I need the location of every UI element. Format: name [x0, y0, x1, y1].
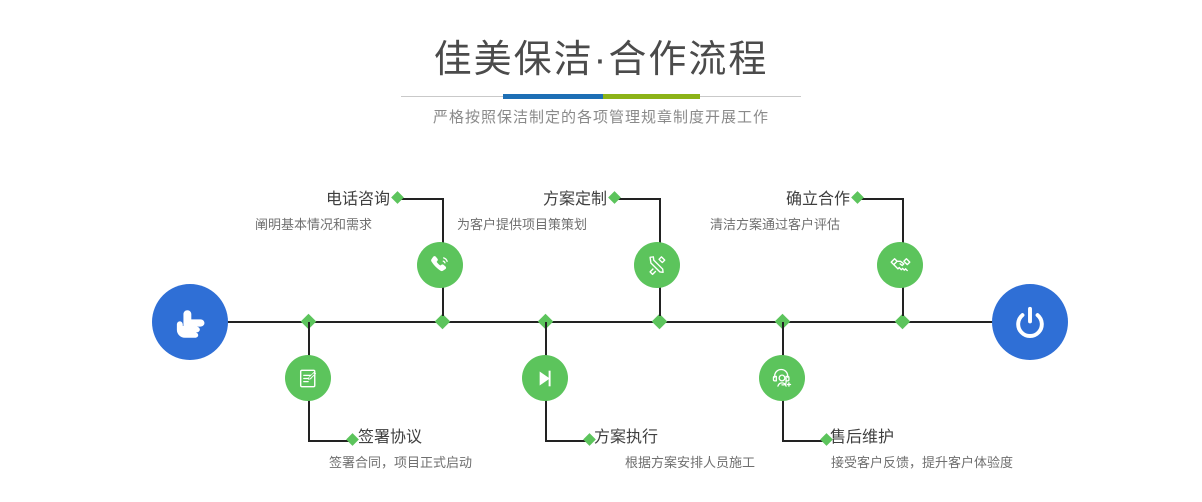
page-subtitle: 严格按照保洁制定的各项管理规章制度开展工作	[0, 106, 1202, 130]
timeline-marker-step-1	[435, 314, 451, 330]
divider-segment-green	[603, 94, 700, 99]
step-desc-6: 接受客户反馈，提升客户体验度	[831, 453, 1013, 473]
step-node-5[interactable]	[877, 242, 923, 288]
step-node-1[interactable]	[417, 242, 463, 288]
step-node-3[interactable]	[634, 242, 680, 288]
flow-end-node[interactable]	[992, 284, 1068, 360]
step-desc-3: 为客户提供项目策策划	[457, 215, 587, 235]
label-marker-step-5	[851, 191, 864, 204]
step-desc-1: 阐明基本情况和需求	[255, 215, 372, 235]
title-divider	[401, 94, 801, 99]
step-title-3: 方案定制	[382, 190, 607, 210]
timeline-marker-step-3	[652, 314, 668, 330]
step-node-2[interactable]	[285, 355, 331, 401]
step-title-4: 方案执行	[594, 428, 658, 448]
pointing-hand-icon	[169, 301, 211, 343]
label-marker-step-2	[346, 433, 359, 446]
step-desc-5: 清洁方案通过客户评估	[710, 215, 840, 235]
step-desc-2: 签署合同，项目正式启动	[329, 453, 472, 473]
pencil-ruler-icon	[644, 252, 670, 278]
headset-add-icon	[769, 365, 795, 391]
step-desc-4: 根据方案安排人员施工	[625, 453, 755, 473]
play-skip-icon	[533, 366, 558, 391]
step-title-1: 电话咨询	[165, 190, 390, 210]
connector-elbow-step-5	[858, 198, 903, 200]
power-icon	[1009, 301, 1051, 343]
phone-call-icon	[427, 252, 453, 278]
step-node-6[interactable]	[759, 355, 805, 401]
page-title: 佳美保洁·合作流程	[0, 36, 1202, 84]
divider-segment-blue	[503, 94, 603, 99]
handshake-icon	[887, 252, 914, 279]
document-edit-icon	[296, 366, 321, 391]
step-title-6: 售后维护	[830, 428, 894, 448]
label-marker-step-3	[608, 191, 621, 204]
timeline-marker-step-5	[895, 314, 911, 330]
step-title-5: 确立合作	[625, 190, 850, 210]
step-node-4[interactable]	[522, 355, 568, 401]
step-title-2: 签署协议	[358, 428, 422, 448]
flow-start-node[interactable]	[152, 284, 228, 360]
process-flow-infographic: 佳美保洁·合作流程 严格按照保洁制定的各项管理规章制度开展工作	[0, 0, 1202, 502]
